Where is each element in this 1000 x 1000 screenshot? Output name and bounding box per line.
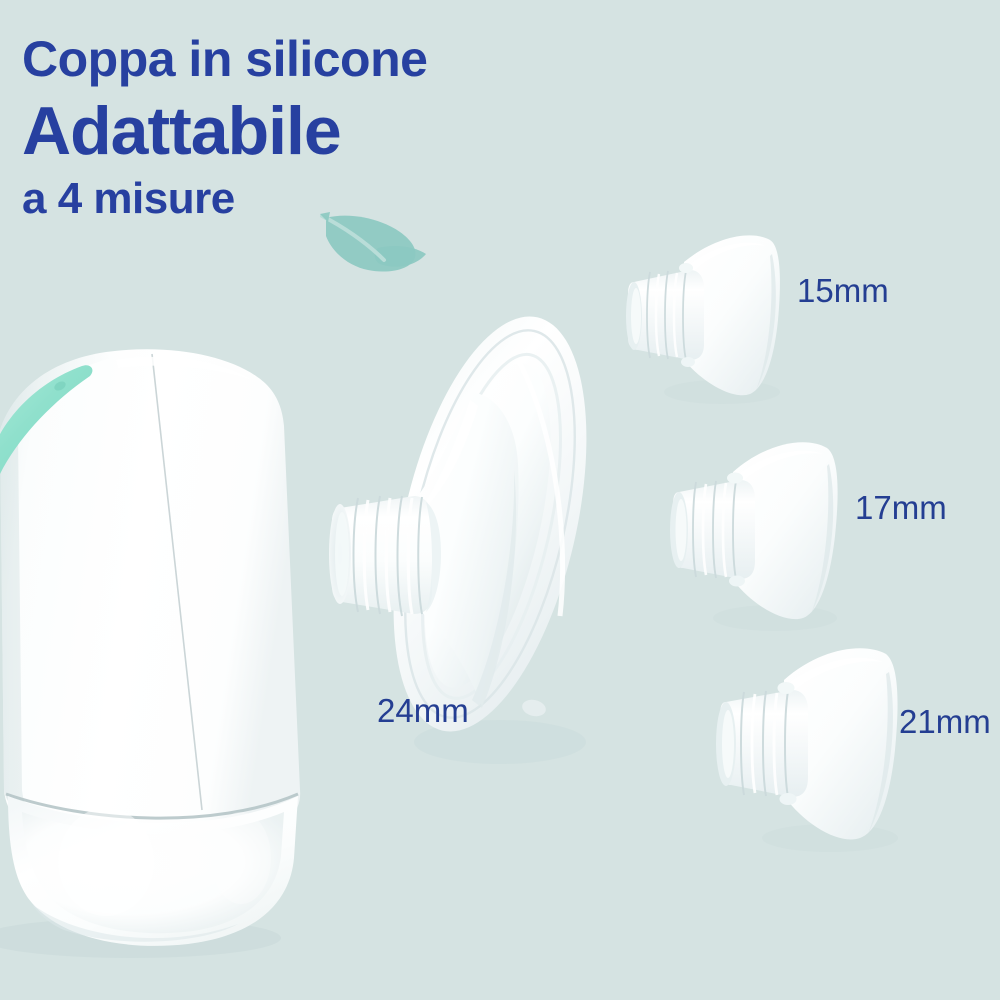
size-label-21mm: 21mm <box>899 703 991 741</box>
silicone-insert-17mm <box>655 434 860 634</box>
breast-pump-body <box>0 338 336 963</box>
headline-line-3: a 4 misure <box>22 177 427 221</box>
silicone-insert-15mm <box>612 228 802 408</box>
product-marketing-image: Coppa in silicone Adattabile a 4 misure <box>0 0 1000 1000</box>
silicone-insert-21mm <box>700 640 925 855</box>
size-label-15mm: 15mm <box>797 272 889 310</box>
silicone-flange-24mm <box>322 296 622 796</box>
size-label-17mm: 17mm <box>855 489 947 527</box>
headline-line-1: Coppa in silicone <box>22 34 427 84</box>
size-label-24mm: 24mm <box>377 692 469 730</box>
headline-line-2: Adattabile <box>22 97 427 165</box>
headline-block: Coppa in silicone Adattabile a 4 misure <box>22 34 427 221</box>
